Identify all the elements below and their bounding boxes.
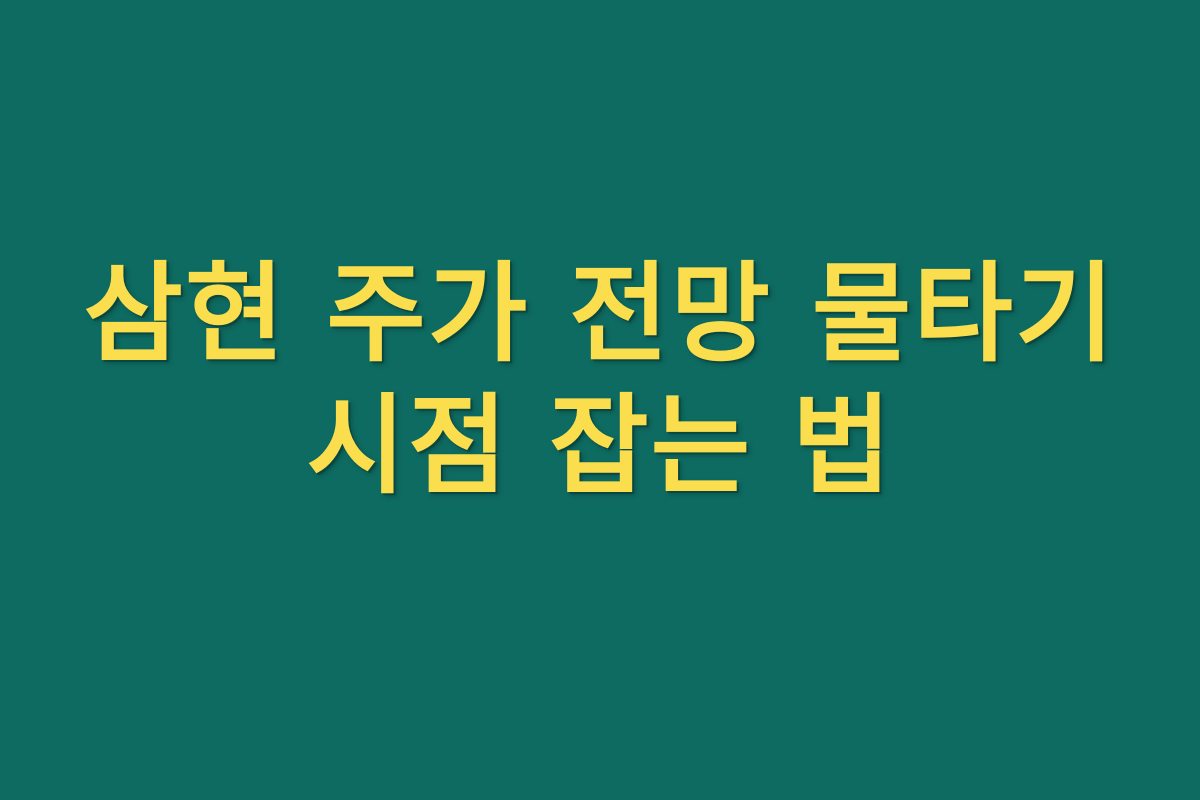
title-line-1: 삼현 주가 전망 물타기 [50, 249, 1150, 381]
banner-canvas: 삼현 주가 전망 물타기 시점 잡는 법 [0, 0, 1200, 800]
title-line-2: 시점 잡는 법 [50, 381, 1150, 513]
title-block: 삼현 주가 전망 물타기 시점 잡는 법 [50, 249, 1150, 513]
